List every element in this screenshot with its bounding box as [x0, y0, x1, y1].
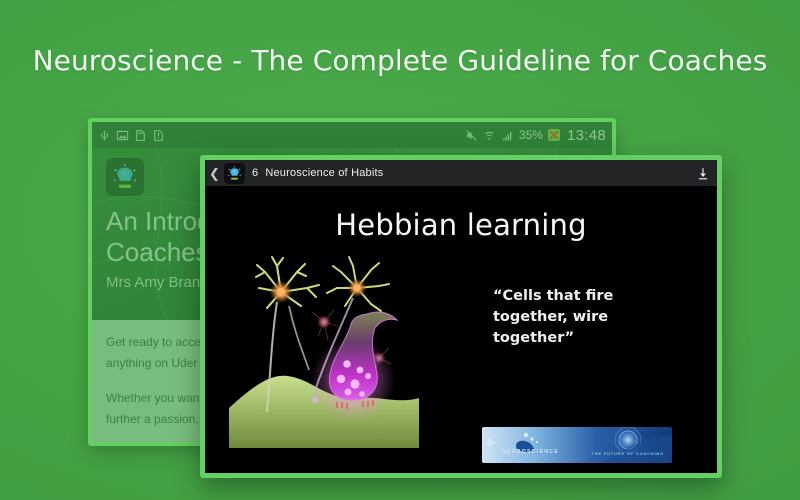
download-icon [696, 166, 710, 181]
banner-logo-subtitle: FOR COACHES [503, 456, 533, 460]
android-status-bar: 35% 13:48 [92, 122, 612, 148]
lecture-title: Neuroscience of Habits [265, 167, 383, 179]
desc-line-4: further a passion, [106, 412, 199, 426]
video-app-icon [224, 163, 245, 184]
mute-icon [465, 129, 478, 142]
neuron-synapse-illustration [229, 248, 419, 448]
slide-canvas[interactable]: Hebbian learning “Cells that fire togeth… [205, 186, 717, 473]
banner-logo-name: NEUROSCIENCE [502, 449, 559, 455]
brain-icon [225, 164, 244, 183]
video-player-window[interactable]: ❮ 6 Neuroscien [200, 155, 722, 478]
chevron-left-icon[interactable]: ❮ [209, 167, 217, 180]
slide-title: Hebbian learning [205, 208, 717, 242]
status-left-icons [98, 129, 165, 142]
download-button[interactable] [696, 166, 710, 181]
status-clock: 13:48 [567, 127, 606, 144]
page-background: Neuroscience - The Complete Guideline fo… [0, 0, 800, 500]
brain-icon [108, 160, 142, 194]
desc-line-1: Get ready to acce [106, 335, 201, 349]
slide-quote: “Cells that fire together, wire together… [493, 286, 693, 349]
status-right-icons: 35% 13:48 [465, 127, 606, 144]
video-title-bar: ❮ 6 Neuroscien [205, 160, 717, 186]
wifi-icon [483, 129, 496, 142]
footer-logo-banner: NEUROSCIENCE FOR COACHES THE FUTURE OF C… [482, 427, 672, 463]
sd-card-alert-icon [152, 129, 165, 142]
banner-tagline: THE FUTURE OF COACHING [592, 451, 665, 456]
desc-line-3: Whether you wan [106, 391, 199, 405]
course-app-icon [106, 158, 144, 196]
sd-card-icon [134, 129, 147, 142]
image-icon [116, 129, 129, 142]
page-title: Neuroscience - The Complete Guideline fo… [0, 44, 800, 77]
usb-icon [98, 129, 111, 142]
course-author: Mrs Amy Bran [106, 274, 200, 291]
signal-icon [501, 129, 514, 142]
battery-percent: 35% [519, 128, 543, 142]
desc-line-2: anything on Uder [106, 356, 197, 370]
lecture-number: 6 [252, 167, 258, 179]
battery-charging-icon [548, 129, 560, 141]
